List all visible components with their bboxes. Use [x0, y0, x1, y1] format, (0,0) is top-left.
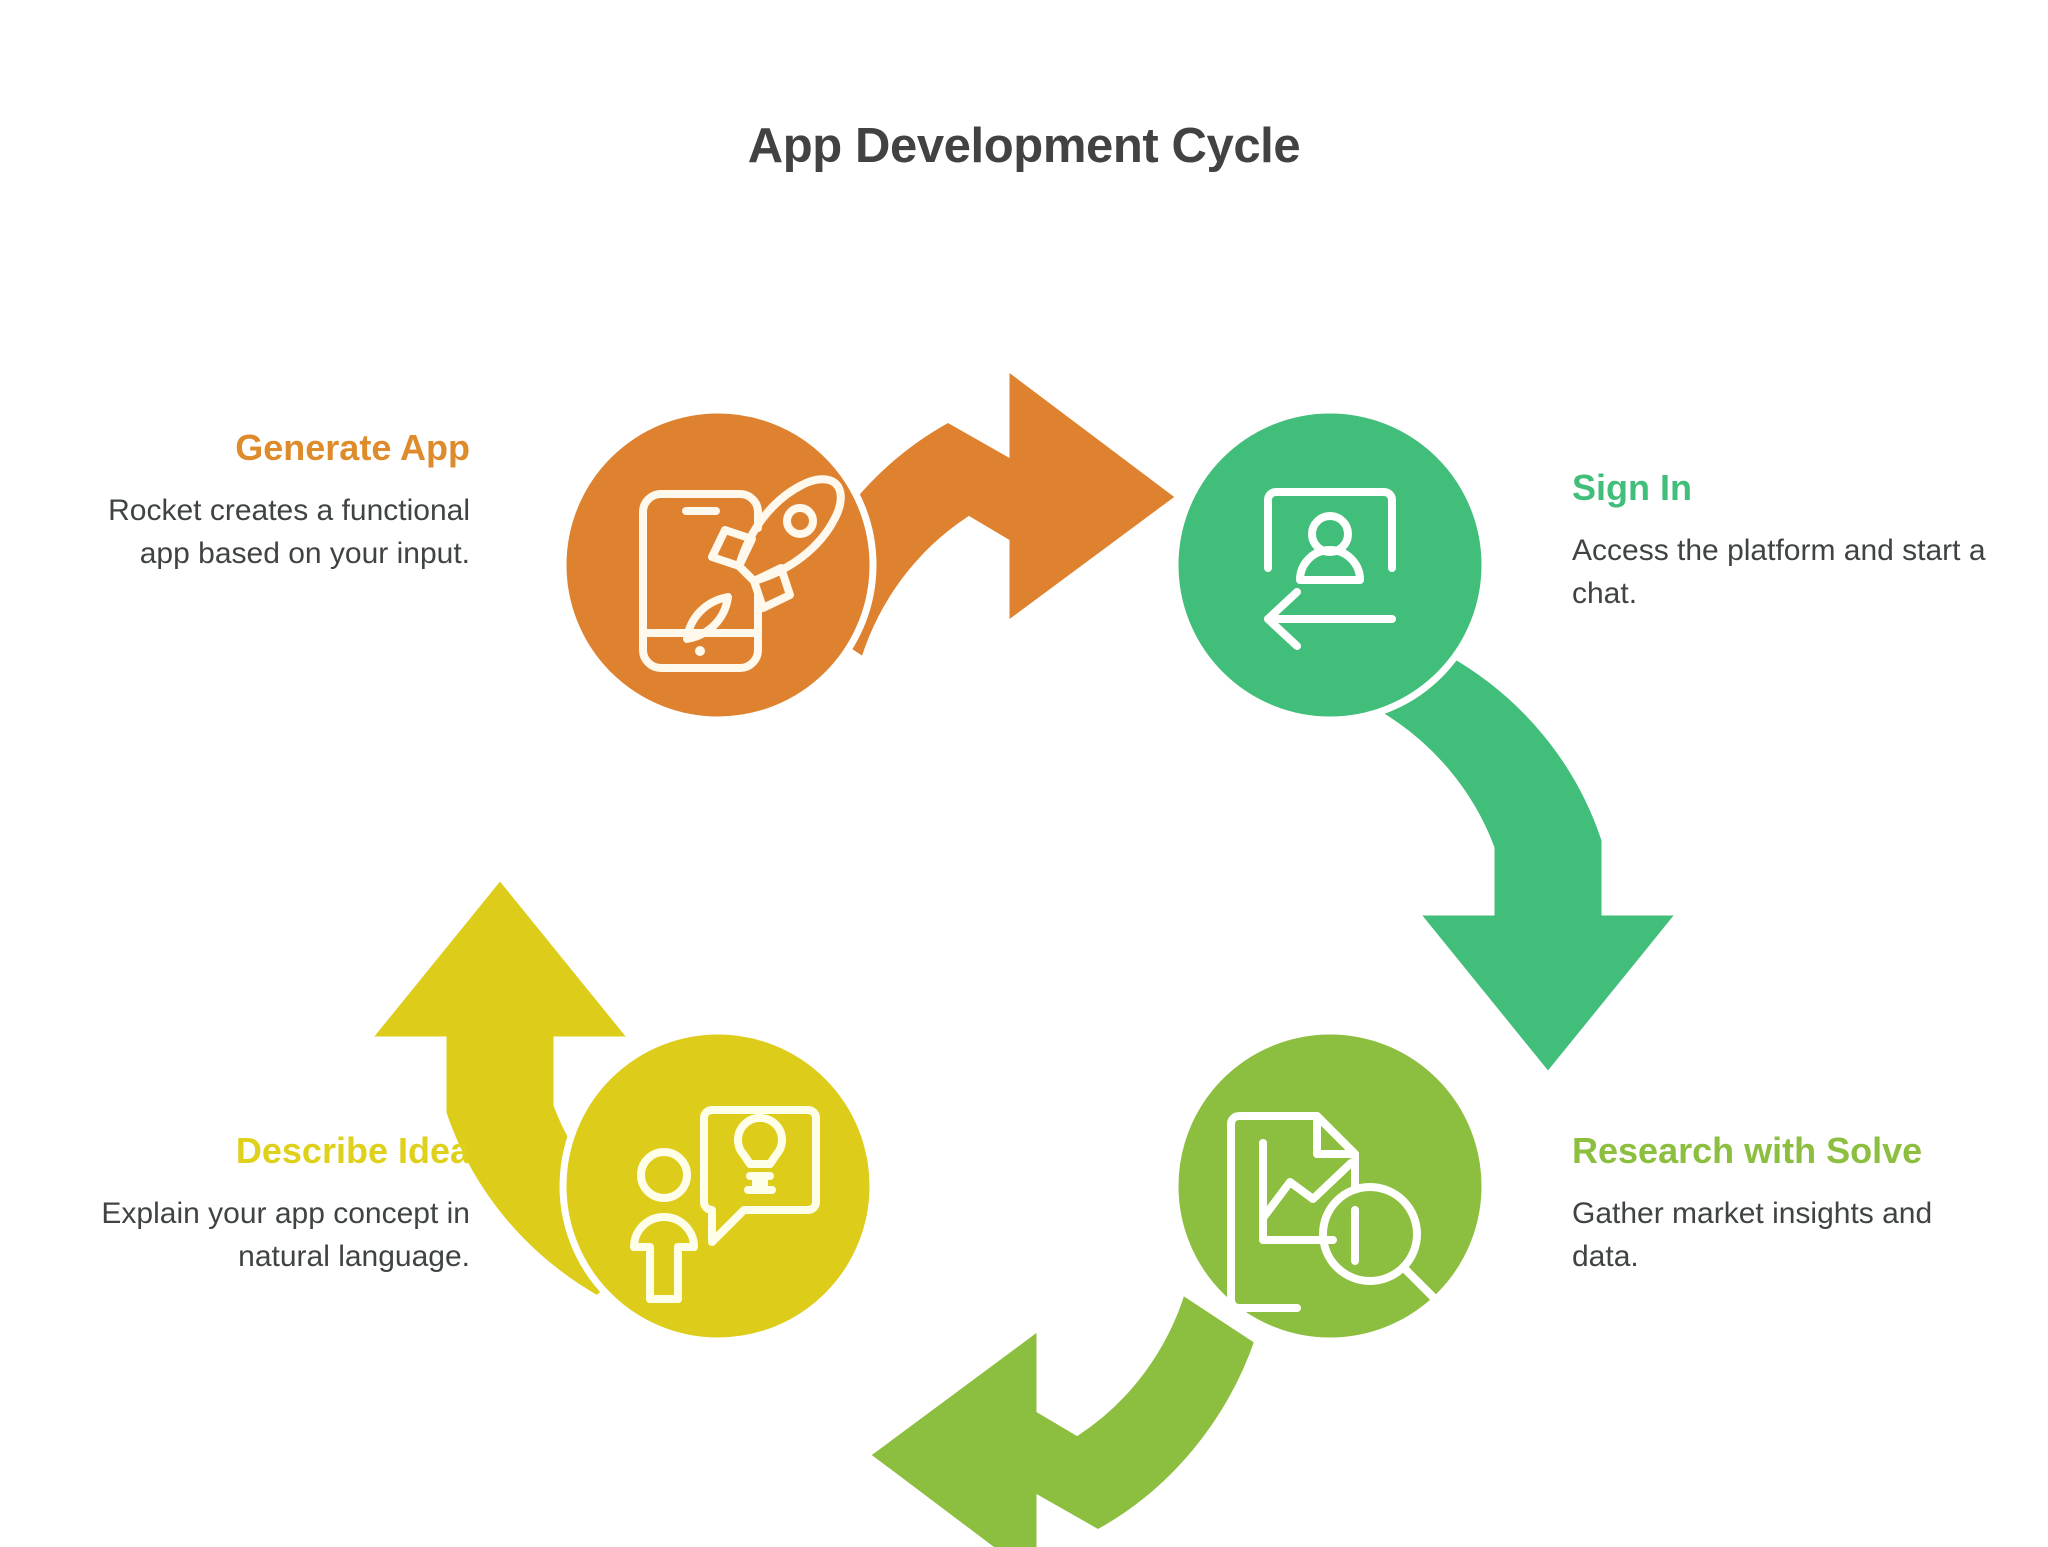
heading-sign-in: Sign In — [1572, 465, 2002, 510]
label-block-describe-idea: Describe Idea Explain your app concept i… — [50, 1128, 470, 1278]
arrow-research-solve-to-describe-idea — [866, 1291, 1258, 1547]
heading-research-solve: Research with Solve — [1572, 1128, 1972, 1173]
label-block-generate-app: Generate App Rocket creates a functional… — [60, 425, 470, 575]
label-block-research-solve: Research with Solve Gather market insigh… — [1572, 1128, 1972, 1278]
step-circle-research-solve[interactable] — [1175, 1031, 1485, 1341]
description-describe-idea: Explain your app concept in natural lang… — [50, 1193, 470, 1278]
heading-generate-app: Generate App — [60, 425, 470, 470]
description-research-solve: Gather market insights and data. — [1572, 1193, 1972, 1278]
app-development-cycle-diagram — [0, 0, 2048, 1547]
label-block-sign-in: Sign In Access the platform and start a … — [1572, 465, 2002, 615]
description-sign-in: Access the platform and start a chat. — [1572, 530, 2002, 615]
step-circle-sign-in[interactable] — [1175, 410, 1485, 720]
description-generate-app: Rocket creates a functional app based on… — [60, 490, 470, 575]
arrow-sign-in-to-research-solve — [1375, 652, 1681, 1076]
step-circle-generate-app[interactable] — [563, 410, 873, 720]
step-circle-describe-idea[interactable] — [563, 1031, 873, 1341]
heading-describe-idea: Describe Idea — [50, 1128, 470, 1173]
